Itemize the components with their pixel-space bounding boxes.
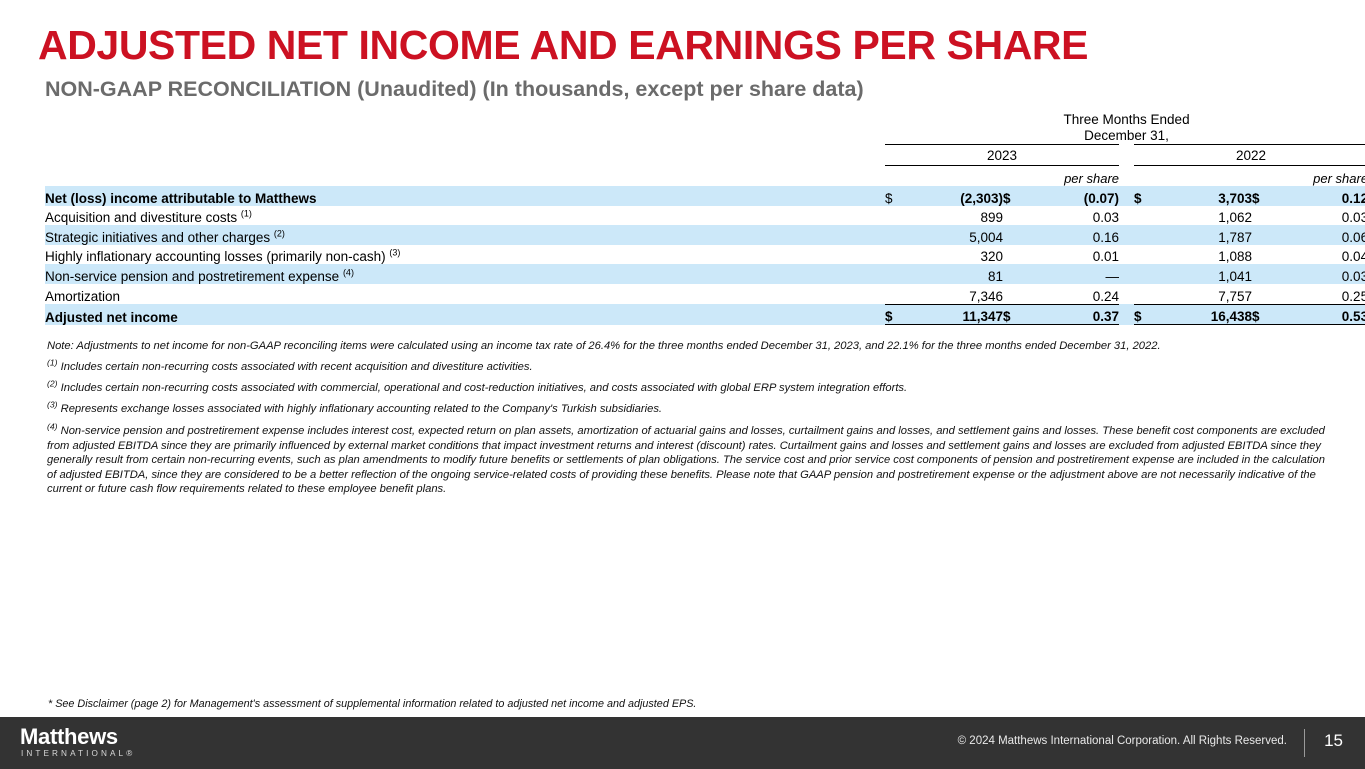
currency-2022: $ xyxy=(1134,186,1160,206)
currency-2023 xyxy=(885,206,911,226)
logo-subtext: INTERNATIONAL® xyxy=(20,748,135,759)
per-share-2022: 0.04 xyxy=(1276,245,1365,265)
table-row: Strategic initiatives and other charges … xyxy=(45,225,1365,245)
currency-ps-2023 xyxy=(1003,206,1027,226)
year-header-row: 2023 2022 xyxy=(45,145,1365,166)
double-rule-segment xyxy=(1003,325,1027,329)
currency-2023: $ xyxy=(885,186,911,206)
double-rule-segment xyxy=(1027,325,1119,329)
row-label: Acquisition and divestiture costs (1) xyxy=(45,206,885,226)
currency-ps-2023 xyxy=(1003,264,1027,284)
table-row-total: Adjusted net income $ 11,347 $ 0.37 $ 16… xyxy=(45,304,1365,325)
value-2022: 1,787 xyxy=(1160,225,1252,245)
period-line-1: Three Months Ended xyxy=(1064,112,1190,127)
total-value-2022: 16,438 xyxy=(1160,304,1252,325)
note-1-marker: (1) xyxy=(47,357,58,367)
spacer-cell xyxy=(1134,166,1160,187)
period-header: Three Months Ended December 31, xyxy=(885,112,1365,145)
slide-root: ADJUSTED NET INCOME AND EARNINGS PER SHA… xyxy=(0,0,1365,769)
footnote-marker: (4) xyxy=(343,267,354,277)
note-1: (1) Includes certain non-recurring costs… xyxy=(47,361,1337,375)
total-currency-2022: $ xyxy=(1134,304,1160,325)
group-gap xyxy=(1119,264,1134,284)
value-2023: 320 xyxy=(911,245,1003,265)
row-label-text: Acquisition and divestiture costs xyxy=(45,210,237,225)
row-label-text: Strategic initiatives and other charges xyxy=(45,230,270,245)
group-gap xyxy=(1119,325,1134,329)
year-header-2022: 2022 xyxy=(1134,145,1365,166)
year-header-2023: 2023 xyxy=(885,145,1119,166)
group-gap xyxy=(1119,206,1134,226)
row-label-text: Highly inflationary accounting losses (p… xyxy=(45,249,386,264)
per-share-header-row: per share per share xyxy=(45,166,1365,187)
period-header-row: Three Months Ended December 31, xyxy=(45,112,1365,145)
spacer-cell xyxy=(45,166,885,187)
group-gap xyxy=(1119,145,1134,166)
currency-ps-2023: $ xyxy=(1003,186,1027,206)
spacer-cell xyxy=(45,112,885,145)
currency-2022 xyxy=(1134,245,1160,265)
group-gap xyxy=(1119,284,1134,304)
copyright-text: © 2024 Matthews International Corporatio… xyxy=(958,735,1287,747)
total-currency-ps-2022: $ xyxy=(1252,304,1276,325)
group-gap xyxy=(1119,186,1134,206)
double-rule-segment xyxy=(1160,325,1252,329)
table-row: Non-service pension and postretirement e… xyxy=(45,264,1365,284)
note-1-text: Includes certain non-recurring costs ass… xyxy=(61,361,533,373)
row-label: Non-service pension and postretirement e… xyxy=(45,264,885,284)
spacer-cell xyxy=(45,325,885,329)
group-gap xyxy=(1119,225,1134,245)
spacer-cell xyxy=(885,166,911,187)
total-currency-2023: $ xyxy=(885,304,911,325)
per-share-2023: — xyxy=(1027,264,1119,284)
per-share-label-2023: per share xyxy=(1003,166,1119,187)
page-subtitle: NON-GAAP RECONCILIATION (Unaudited) (In … xyxy=(45,77,864,102)
currency-2022 xyxy=(1134,284,1160,304)
double-rule-row xyxy=(45,325,1365,329)
total-per-share-2022: 0.53 xyxy=(1276,304,1365,325)
currency-ps-2023 xyxy=(1003,245,1027,265)
table-row: Net (loss) income attributable to Matthe… xyxy=(45,186,1365,206)
note-4-text: Non-service pension and postretirement e… xyxy=(47,425,1325,495)
row-label: Highly inflationary accounting losses (p… xyxy=(45,245,885,265)
per-share-label-2022: per share xyxy=(1252,166,1365,187)
value-2023: 81 xyxy=(911,264,1003,284)
value-2022: 1,062 xyxy=(1160,206,1252,226)
footnote-marker: (1) xyxy=(241,209,252,219)
note-3-marker: (3) xyxy=(47,400,58,410)
row-label-text: Net (loss) income attributable to Matthe… xyxy=(45,191,317,206)
row-label: Amortization xyxy=(45,284,885,304)
table-row: Amortization 7,346 0.24 7,757 0.25 xyxy=(45,284,1365,304)
note-3: (3) Represents exchange losses associate… xyxy=(47,403,1337,417)
note-2: (2) Includes certain non-recurring costs… xyxy=(47,382,1337,396)
double-rule-segment xyxy=(885,325,911,329)
total-currency-ps-2023: $ xyxy=(1003,304,1027,325)
note-3-text: Represents exchange losses associated wi… xyxy=(61,403,662,415)
currency-2023 xyxy=(885,245,911,265)
footer-bar: Matthews INTERNATIONAL® © 2024 Matthews … xyxy=(0,717,1365,769)
note-4-marker: (4) xyxy=(47,422,58,432)
currency-2023 xyxy=(885,264,911,284)
value-2022: 3,703 xyxy=(1160,186,1252,206)
disclaimer-text: * See Disclaimer (page 2) for Management… xyxy=(48,698,696,710)
double-rule-segment xyxy=(911,325,1003,329)
double-rule-segment xyxy=(1276,325,1365,329)
spacer-cell xyxy=(45,145,885,166)
group-gap xyxy=(1119,166,1134,187)
row-label-text: Amortization xyxy=(45,289,120,304)
logo-wordmark: Matthews xyxy=(20,725,135,748)
currency-ps-2022: $ xyxy=(1252,186,1276,206)
currency-2022 xyxy=(1134,206,1160,226)
note-2-text: Includes certain non-recurring costs ass… xyxy=(61,382,908,394)
double-rule-segment xyxy=(1134,325,1160,329)
company-logo: Matthews INTERNATIONAL® xyxy=(20,725,135,759)
currency-2023 xyxy=(885,284,911,304)
currency-2022 xyxy=(1134,264,1160,284)
per-share-2023: 0.03 xyxy=(1027,206,1119,226)
currency-ps-2023 xyxy=(1003,284,1027,304)
value-2022: 1,088 xyxy=(1160,245,1252,265)
period-line-2: December 31, xyxy=(1084,128,1169,143)
per-share-2023: 0.16 xyxy=(1027,225,1119,245)
row-label: Net (loss) income attributable to Matthe… xyxy=(45,186,885,206)
page-number: 15 xyxy=(1324,731,1343,751)
per-share-2023: (0.07) xyxy=(1027,186,1119,206)
per-share-2023: 0.24 xyxy=(1027,284,1119,304)
row-label-text: Non-service pension and postretirement e… xyxy=(45,269,339,284)
per-share-2022: 0.06 xyxy=(1276,225,1365,245)
value-2023: 5,004 xyxy=(911,225,1003,245)
value-2023: 7,346 xyxy=(911,284,1003,304)
currency-2022 xyxy=(1134,225,1160,245)
table-row: Highly inflationary accounting losses (p… xyxy=(45,245,1365,265)
currency-2023 xyxy=(885,225,911,245)
per-share-2022: 0.03 xyxy=(1276,206,1365,226)
total-per-share-2023: 0.37 xyxy=(1027,304,1119,325)
per-share-2022: 0.12 xyxy=(1276,186,1365,206)
currency-ps-2022 xyxy=(1252,225,1276,245)
page-title: ADJUSTED NET INCOME AND EARNINGS PER SHA… xyxy=(38,22,1088,69)
spacer-cell xyxy=(1160,166,1252,187)
per-share-2022: 0.03 xyxy=(1276,264,1365,284)
group-gap xyxy=(1119,245,1134,265)
double-rule-segment xyxy=(1252,325,1276,329)
currency-ps-2022 xyxy=(1252,206,1276,226)
per-share-2022: 0.25 xyxy=(1276,284,1365,304)
currency-ps-2022 xyxy=(1252,245,1276,265)
footnotes-block: Note: Adjustments to net income for non-… xyxy=(47,340,1337,496)
per-share-2023: 0.01 xyxy=(1027,245,1119,265)
total-value-2023: 11,347 xyxy=(911,304,1003,325)
note-4: (4) Non-service pension and postretireme… xyxy=(47,424,1337,496)
currency-ps-2022 xyxy=(1252,264,1276,284)
footnote-marker: (2) xyxy=(274,228,285,238)
financial-table-container: Three Months Ended December 31, 2023 202… xyxy=(45,112,1340,328)
total-label: Adjusted net income xyxy=(45,304,885,325)
spacer-cell xyxy=(911,166,1003,187)
footer-divider xyxy=(1304,729,1305,757)
currency-ps-2022 xyxy=(1252,284,1276,304)
note-main: Note: Adjustments to net income for non-… xyxy=(47,340,1337,354)
group-gap xyxy=(1119,304,1134,325)
row-label: Strategic initiatives and other charges … xyxy=(45,225,885,245)
value-2022: 1,041 xyxy=(1160,264,1252,284)
currency-ps-2023 xyxy=(1003,225,1027,245)
value-2023: 899 xyxy=(911,206,1003,226)
footnote-marker: (3) xyxy=(389,248,400,258)
value-2023: (2,303) xyxy=(911,186,1003,206)
note-2-marker: (2) xyxy=(47,378,58,388)
table-row: Acquisition and divestiture costs (1) 89… xyxy=(45,206,1365,226)
value-2022: 7,757 xyxy=(1160,284,1252,304)
reconciliation-table: Three Months Ended December 31, 2023 202… xyxy=(45,112,1365,328)
